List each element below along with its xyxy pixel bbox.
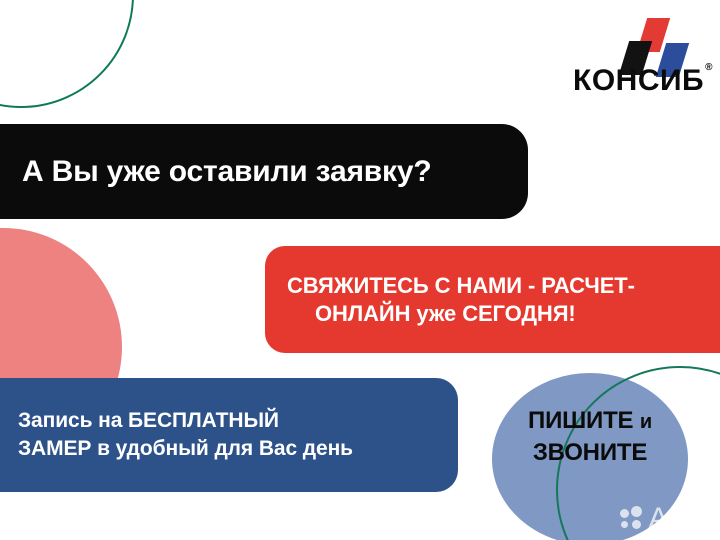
logo-marks — [562, 18, 712, 70]
write-and-call-line-1: ПИШИТЕ и — [492, 405, 688, 437]
logo-wordmark: КОНСИБ® — [562, 66, 712, 96]
logo-wordmark-text: КОНСИБ — [573, 64, 704, 97]
registered-trademark-icon: ® — [705, 62, 713, 73]
green-circle-outline-top-left — [0, 0, 134, 108]
write-and-call-callout: ПИШИТЕ и ЗВОНИТЕ — [492, 405, 688, 470]
question-banner-text: А Вы уже оставили заявку? — [0, 155, 431, 189]
promo-banner: КОНСИБ® А Вы уже оставили заявку? СВЯЖИТ… — [0, 0, 720, 540]
write-and-call-main: ПИШИТЕ — [528, 407, 633, 434]
contact-cta-box: СВЯЖИТЕСЬ С НАМИ - РАСЧЕТ- ОНЛАЙН уже СЕ… — [265, 246, 720, 353]
contact-cta-line-1: СВЯЖИТЕСЬ С НАМИ - РАСЧЕТ- — [287, 272, 720, 300]
write-and-call-conjunction: и — [640, 411, 652, 433]
free-measurement-box: Запись на БЕСПЛАТНЫЙ ЗАМЕР в удобный для… — [0, 378, 458, 492]
write-and-call-line-2: ЗВОНИТЕ — [492, 437, 688, 469]
brand-logo: КОНСИБ® — [562, 18, 712, 108]
avito-dots-icon — [620, 506, 646, 532]
free-measurement-line-2: ЗАМЕР в удобный для Вас день — [18, 435, 458, 463]
contact-cta-line-2: ОНЛАЙН уже СЕГОДНЯ! — [287, 300, 720, 328]
avito-watermark: Avito — [620, 504, 712, 534]
avito-watermark-label: Avito — [648, 504, 712, 534]
free-measurement-line-1: Запись на БЕСПЛАТНЫЙ — [18, 407, 458, 435]
question-banner: А Вы уже оставили заявку? — [0, 124, 528, 219]
